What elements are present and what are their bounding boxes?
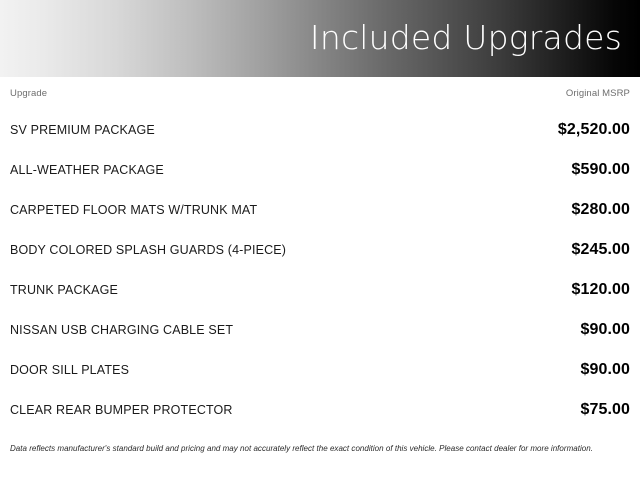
upgrade-price: $280.00 [571,201,630,219]
upgrade-name: TRUNK PACKAGE [10,283,118,297]
upgrade-price: $75.00 [580,401,630,419]
upgrade-price: $90.00 [580,361,630,379]
table-row: CARPETED FLOOR MATS W/TRUNK MAT $280.00 [0,190,640,230]
table-column-headers: Upgrade Original MSRP [0,77,640,110]
column-header-original-msrp: Original MSRP [566,77,630,110]
disclaimer-text: Data reflects manufacturer's standard bu… [10,443,632,454]
upgrade-name: ALL-WEATHER PACKAGE [10,163,164,177]
upgrade-price: $245.00 [571,241,630,259]
included-upgrades-page: Included Upgrades Upgrade Original MSRP … [0,0,640,480]
table-row: DOOR SILL PLATES $90.00 [0,350,640,390]
header-banner: Included Upgrades [0,0,640,77]
upgrade-name: BODY COLORED SPLASH GUARDS (4-PIECE) [10,243,286,257]
upgrade-price: $90.00 [580,321,630,339]
table-row: SV PREMIUM PACKAGE $2,520.00 [0,110,640,150]
table-row: NISSAN USB CHARGING CABLE SET $90.00 [0,310,640,350]
table-row: CLEAR REAR BUMPER PROTECTOR $75.00 [0,390,640,430]
upgrade-name: SV PREMIUM PACKAGE [10,123,155,137]
upgrade-name: CARPETED FLOOR MATS W/TRUNK MAT [10,203,257,217]
upgrades-table: Upgrade Original MSRP SV PREMIUM PACKAGE… [0,77,640,430]
upgrade-price: $2,520.00 [558,121,630,139]
table-row: TRUNK PACKAGE $120.00 [0,270,640,310]
column-header-upgrade: Upgrade [10,77,47,110]
table-row: ALL-WEATHER PACKAGE $590.00 [0,150,640,190]
upgrade-name: CLEAR REAR BUMPER PROTECTOR [10,403,233,417]
upgrade-price: $590.00 [571,161,630,179]
upgrade-name: NISSAN USB CHARGING CABLE SET [10,323,233,337]
page-title: Included Upgrades [310,17,622,59]
upgrade-name: DOOR SILL PLATES [10,363,129,377]
table-row: BODY COLORED SPLASH GUARDS (4-PIECE) $24… [0,230,640,270]
upgrade-price: $120.00 [571,281,630,299]
table-rows: SV PREMIUM PACKAGE $2,520.00 ALL-WEATHER… [0,110,640,430]
